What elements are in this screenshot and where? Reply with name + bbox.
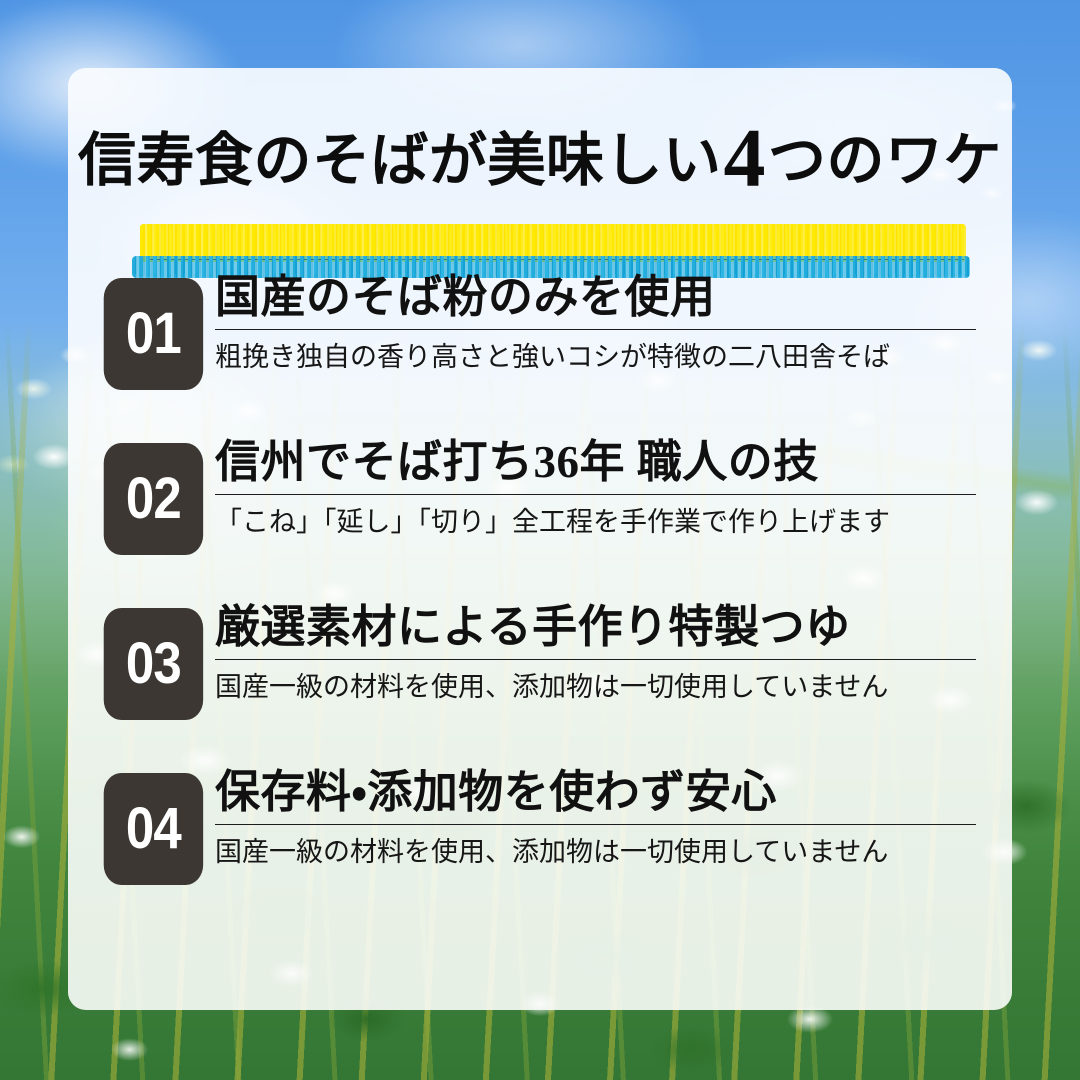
reason-subtext: 国産一級の材料を使用、添加物は一切使用していません xyxy=(215,825,976,870)
page-title-lead: 信寿食のそばが美味しい xyxy=(78,128,722,193)
reason-text-group: 保存料・添加物を使わず安心 国産一級の材料を使用、添加物は一切使用していません xyxy=(215,763,976,871)
page-title-trail: つのワケ xyxy=(768,128,1002,193)
title-block: 信寿食のそばが美味しい4つのワケ xyxy=(68,120,1012,280)
reason-number-label: 04 xyxy=(126,800,181,858)
reason-list: 01 国産のそば粉のみを使用 粗挽き独自の香り高さと強いコシが特徴の二八田舎そば… xyxy=(68,268,1012,928)
reason-subtext: 「こね」「延し」「切り」全工程を手作業で作り上げます xyxy=(215,495,976,540)
reason-text-group: 信州でそば打ち36年 職人の技 「こね」「延し」「切り」全工程を手作業で作り上げ… xyxy=(215,433,976,541)
reason-row: 01 国産のそば粉のみを使用 粗挽き独自の香り高さと強いコシが特徴の二八田舎そば xyxy=(68,268,1012,433)
reason-number-label: 03 xyxy=(126,635,181,693)
reason-subtext: 国産一級の材料を使用、添加物は一切使用していません xyxy=(215,660,976,705)
reason-heading: 国産のそば粉のみを使用 xyxy=(215,268,976,322)
poster-stage: 信寿食のそばが美味しい4つのワケ 01 国産のそば粉のみを使用 粗挽き独自の香り… xyxy=(0,0,1080,1080)
reason-number-badge: 04 xyxy=(104,773,203,885)
reason-number-badge: 03 xyxy=(104,608,203,720)
page-title: 信寿食のそばが美味しい4つのワケ xyxy=(68,132,1012,190)
reason-row: 04 保存料・添加物を使わず安心 国産一級の材料を使用、添加物は一切使用していま… xyxy=(68,763,1012,928)
reason-row: 02 信州でそば打ち36年 職人の技 「こね」「延し」「切り」全工程を手作業で作… xyxy=(68,433,1012,598)
reason-number-badge: 02 xyxy=(104,443,203,555)
reason-heading: 保存料・添加物を使わず安心 xyxy=(215,763,976,817)
reason-text-group: 厳選素材による手作り特製つゆ 国産一級の材料を使用、添加物は一切使用していません xyxy=(215,598,976,706)
reason-row: 03 厳選素材による手作り特製つゆ 国産一級の材料を使用、添加物は一切使用してい… xyxy=(68,598,1012,763)
reason-heading: 厳選素材による手作り特製つゆ xyxy=(215,598,976,652)
reason-text-group: 国産のそば粉のみを使用 粗挽き独自の香り高さと強いコシが特徴の二八田舎そば xyxy=(215,268,976,376)
page-title-count: 4 xyxy=(722,112,769,205)
reason-number-label: 02 xyxy=(126,470,181,528)
reason-subtext: 粗挽き独自の香り高さと強いコシが特徴の二八田舎そば xyxy=(215,330,976,375)
reason-number-badge: 01 xyxy=(104,278,203,390)
reason-number-label: 01 xyxy=(126,305,181,363)
content-card: 信寿食のそばが美味しい4つのワケ 01 国産のそば粉のみを使用 粗挽き独自の香り… xyxy=(68,68,1012,1010)
reason-heading: 信州でそば打ち36年 職人の技 xyxy=(215,433,976,487)
